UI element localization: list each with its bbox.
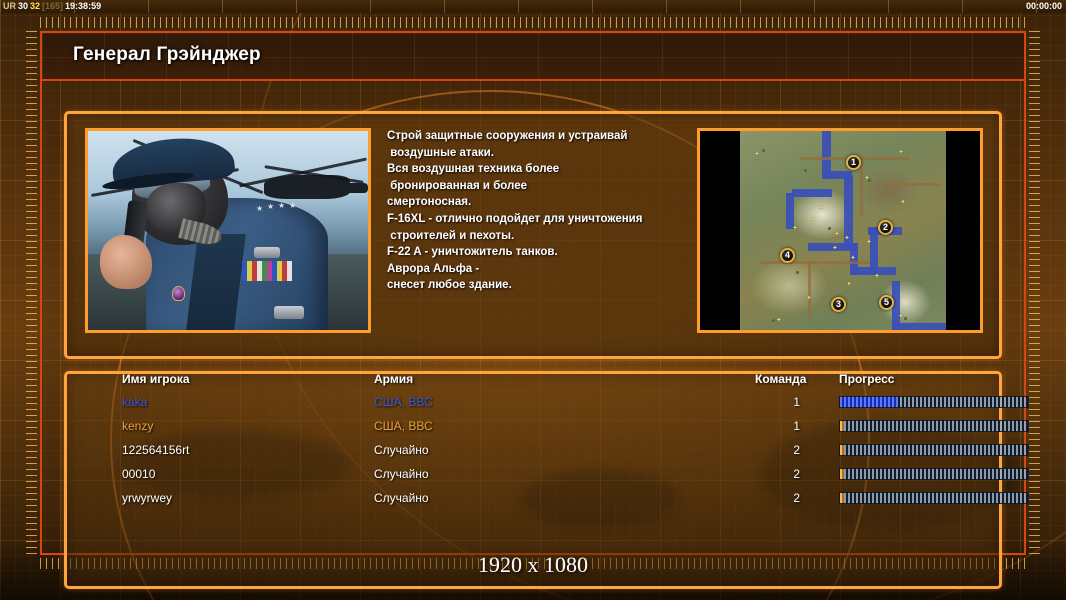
road: [886, 183, 940, 186]
player-team[interactable]: 2: [786, 467, 800, 482]
resource-marker: ✦: [844, 235, 850, 242]
player-team[interactable]: 2: [786, 443, 800, 458]
resource-marker: ✦: [850, 255, 856, 262]
player-name: 122564156rt: [122, 443, 189, 458]
rank-star-icon: ★: [256, 205, 263, 213]
river: [792, 189, 832, 197]
lobby-window-frame: Генерал Грэйнджер: [40, 31, 1026, 555]
perf-value-1: 30: [17, 1, 29, 11]
resource-marker: ✦: [776, 317, 782, 324]
resource-marker: ✦: [792, 225, 798, 232]
table-row[interactable]: kenzyСША, ВВС1: [64, 419, 1002, 443]
road: [860, 157, 863, 217]
rank-star-icon: ★: [289, 202, 296, 210]
player-army[interactable]: Случайно: [374, 491, 429, 506]
purple-heart-medal-icon: [172, 286, 185, 301]
perf-stats: UR3032[165]19:38:59: [2, 0, 102, 13]
status-bar-ticks: [0, 0, 1066, 13]
tree: [772, 319, 775, 322]
player-team[interactable]: 1: [786, 419, 800, 434]
tree: [804, 169, 807, 172]
progress-bar: [839, 444, 1029, 456]
start-position-marker[interactable]: 5: [879, 295, 894, 310]
tree: [762, 149, 765, 152]
progress-bar: [839, 468, 1029, 480]
hand: [100, 235, 152, 289]
resource-marker: ✦: [874, 273, 880, 280]
start-position-marker[interactable]: 3: [831, 297, 846, 312]
player-army[interactable]: Случайно: [374, 443, 429, 458]
resource-marker: ✦: [898, 149, 904, 156]
rank-star-icon: ★: [278, 202, 285, 210]
resource-marker: ✦: [846, 281, 852, 288]
progress-bar: [839, 420, 1029, 432]
column-header-progress: Прогресс: [839, 372, 894, 386]
table-row[interactable]: yrwyrweyСлучайно2: [64, 491, 1002, 515]
progress-bar-fill: [840, 397, 898, 407]
resource-marker: ✦: [900, 199, 906, 206]
progress-bar-fill: [840, 469, 844, 479]
perf-label: UR: [2, 1, 17, 11]
player-team[interactable]: 1: [786, 395, 800, 410]
game-lobby-screen: UR3032[165]19:38:59 00:00:00 Генерал Грэ…: [0, 0, 1066, 600]
table-row[interactable]: 122564156rtСлучайно2: [64, 443, 1002, 467]
system-clock: 19:38:59: [64, 1, 102, 11]
ruler-right: [1029, 31, 1040, 555]
resource-marker: ✦: [834, 231, 840, 238]
road: [808, 261, 811, 317]
progress-bar-fill: [840, 421, 844, 431]
resource-marker: ✦: [806, 295, 812, 302]
ribbon-bar: [287, 261, 292, 281]
table-row[interactable]: 00010Случайно2: [64, 467, 1002, 491]
resource-marker: ✦: [810, 217, 816, 224]
tree: [904, 317, 907, 320]
helicopter-icon: [334, 183, 368, 193]
status-bar: UR3032[165]19:38:59 00:00:00: [0, 0, 1066, 13]
page-title: Генерал Грэйнджер: [73, 44, 261, 66]
river: [786, 193, 794, 229]
player-army[interactable]: Случайно: [374, 467, 429, 482]
column-header-player: Имя игрока: [122, 372, 190, 386]
player-army[interactable]: США, ВВС: [374, 419, 433, 434]
player-list-header: Имя игрока Армия Команда Прогресс: [64, 372, 1002, 390]
tree: [828, 227, 831, 230]
general-portrait: ★ ★ ★ ★: [85, 128, 371, 333]
player-name: kaka: [122, 395, 147, 410]
map-preview[interactable]: ✦ ✦ ✦ ✦ ✦ ✦ ✦ ✦ ✦ ✦ ✦ ✦ ✦ ✦ ✦ ✦ ✦: [697, 128, 983, 333]
ruler-left: [26, 31, 37, 555]
progress-bar-fill: [840, 445, 844, 455]
resource-marker: ✦: [818, 205, 824, 212]
start-position-marker[interactable]: 4: [780, 248, 795, 263]
map-terrain: ✦ ✦ ✦ ✦ ✦ ✦ ✦ ✦ ✦ ✦ ✦ ✦ ✦ ✦ ✦ ✦ ✦: [740, 131, 946, 330]
player-team[interactable]: 2: [786, 491, 800, 506]
general-description: Строй защитные сооружения и устраивай во…: [387, 128, 693, 294]
general-info-panel: ★ ★ ★ ★ Строй защитные сооружения и: [64, 111, 1002, 359]
column-header-army: Армия: [374, 372, 413, 386]
progress-bar-fill: [840, 493, 844, 503]
progress-bar: [839, 396, 1029, 408]
resolution-label: 1920 x 1080: [0, 552, 1066, 578]
wings-badge-icon: [274, 306, 304, 319]
resource-marker: ✦: [754, 151, 760, 158]
match-timer: 00:00:00: [1026, 0, 1062, 13]
start-position-marker[interactable]: 2: [878, 220, 893, 235]
player-name: yrwyrwey: [122, 491, 172, 506]
resource-marker: ✦: [832, 245, 838, 252]
window-title-bar: Генерал Грэйнджер: [42, 33, 1024, 81]
wings-badge-icon: [254, 247, 280, 258]
resource-marker: ✦: [866, 239, 872, 246]
tree: [796, 271, 799, 274]
progress-bar: [839, 492, 1029, 504]
player-name: kenzy: [122, 419, 153, 434]
ruler-top: [40, 17, 1026, 28]
player-army[interactable]: США, ВВС: [374, 395, 433, 410]
player-name: 00010: [122, 467, 155, 482]
perf-value-2: 32: [29, 1, 41, 11]
resource-marker: ✦: [864, 175, 870, 182]
table-row[interactable]: kakaСША, ВВС1: [64, 395, 1002, 419]
column-header-team: Команда: [755, 372, 806, 386]
rank-star-icon: ★: [267, 203, 274, 211]
player-list-rows: kakaСША, ВВС1kenzyСША, ВВС1122564156rtСл…: [64, 395, 1002, 515]
river: [892, 323, 946, 331]
perf-bracket: [165]: [41, 1, 64, 11]
resource-marker: ✦: [898, 313, 904, 320]
start-position-marker[interactable]: 1: [846, 155, 861, 170]
